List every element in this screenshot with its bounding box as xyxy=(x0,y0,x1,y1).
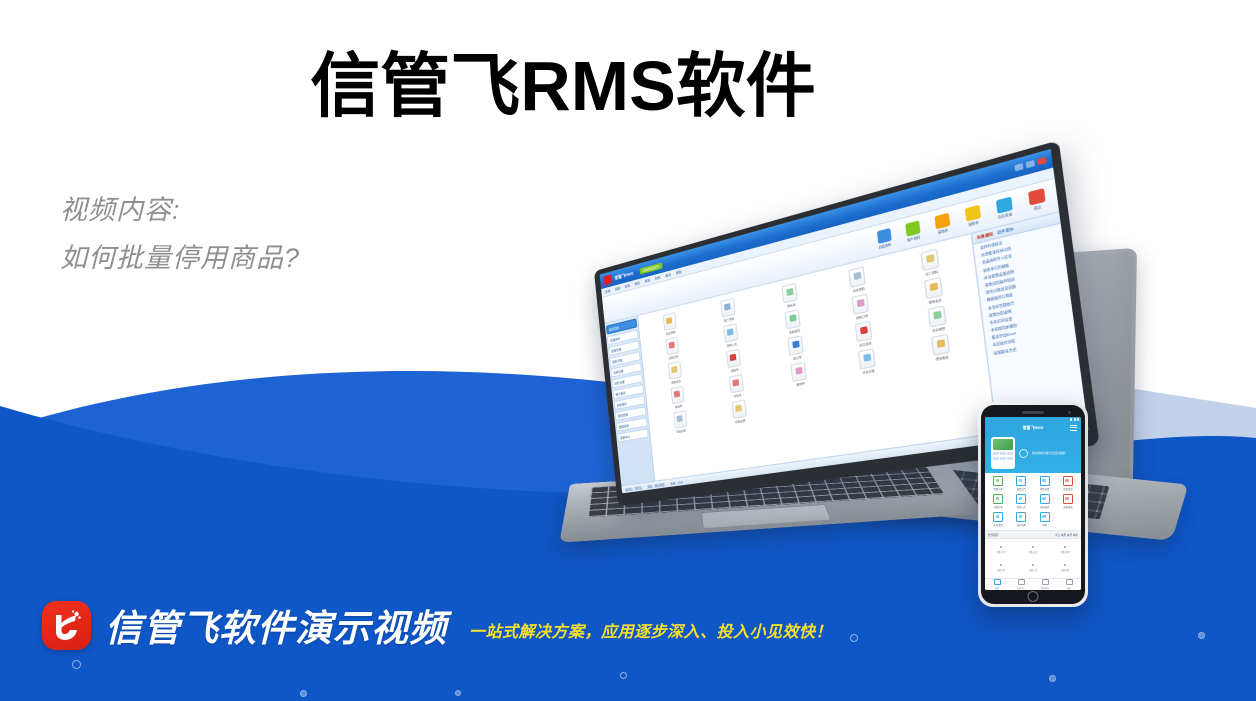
module-icon xyxy=(931,334,950,356)
phone-module-label: 收付款单 xyxy=(1010,523,1032,527)
phone-stat-value: 0 xyxy=(1049,563,1081,567)
menu-item-4[interactable]: 库存 xyxy=(645,278,651,283)
module-icon xyxy=(791,362,807,382)
phone-stat-label: 销售金额 xyxy=(1049,550,1081,554)
module-icon xyxy=(731,400,746,419)
decorative-dot-4 xyxy=(1049,675,1056,682)
page-title: 信管飞RMS软件 xyxy=(0,46,1256,126)
presentation-slide: 信管飞RMS软件 视频内容: 如何批量停用商品? 信 xyxy=(0,0,1256,701)
phone-stats: 0销售订单0销售出库0销售金额0采购订单0采购入库0采购金额 xyxy=(985,539,1081,578)
phone-stat-2: 0销售金额 xyxy=(1049,541,1081,559)
phone-module-grid[interactable]: 销售订单销售出库销售退货销售查询采购订单采购入库采购退货采购查询库存查询收付款单… xyxy=(985,473,1081,530)
phone-filter-3[interactable]: 本年 xyxy=(1073,534,1078,537)
menu-item-0[interactable]: 系统 xyxy=(605,289,611,294)
phone-home-button[interactable] xyxy=(1028,591,1039,602)
wifi-icon xyxy=(1074,418,1076,421)
toolbar-button-4[interactable]: 库存查询 xyxy=(992,196,1017,221)
phone-stat-5: 0采购金额 xyxy=(1049,559,1081,577)
toolbar-button-3[interactable]: 销售单 xyxy=(961,204,985,229)
xinguanfei-logo-icon xyxy=(42,601,91,650)
subtitle-block: 视频内容: 如何批量停用商品? xyxy=(60,186,300,282)
phone-module-label: 采购订单 xyxy=(987,505,1009,509)
phone-camera-icon xyxy=(1068,411,1071,414)
toolbar-button-1[interactable]: 客户资料 xyxy=(901,220,924,244)
phone-stat-label: 采购订单 xyxy=(985,568,1017,572)
user-icon xyxy=(1066,579,1073,585)
phone-module-label: 库存查询 xyxy=(987,523,1009,527)
phone-module-label: 采购入库 xyxy=(1010,505,1032,509)
phone-module-icon xyxy=(1016,494,1026,504)
phone-tab-1[interactable]: 单据中心 xyxy=(1009,579,1033,590)
phone-module-label: 采购退货 xyxy=(1034,505,1056,509)
phone-stat-value: 0 xyxy=(985,545,1017,549)
phone-section-label: 经营概况 xyxy=(988,533,998,537)
right-tab-1[interactable]: 软件更新 xyxy=(997,226,1014,235)
phone-module-icon xyxy=(1016,476,1026,486)
subtitle-line-1: 视频内容: xyxy=(60,186,300,234)
decorative-dot-5 xyxy=(850,634,858,642)
phone-module-10[interactable]: 更多 xyxy=(1034,512,1056,527)
app-title: 信管飞RMS xyxy=(614,270,633,281)
brand-name: 信管飞软件演示视频 xyxy=(105,598,447,652)
module-icon xyxy=(858,348,876,369)
phone-module-icon xyxy=(1063,494,1073,504)
module-icon xyxy=(663,312,677,331)
module-label: 销售退货 xyxy=(671,379,681,385)
module-label: 往来对账 xyxy=(862,368,875,375)
phone-tabbar[interactable]: 首页单据中心经营报表我的 xyxy=(985,578,1081,590)
phone-stat-value: 0 xyxy=(985,563,1017,567)
phone-banner-text: 随时随地掌握企业经营数据 xyxy=(1032,451,1066,455)
phone-app-title: 信管飞RMS xyxy=(1023,425,1044,431)
laptop-front: 信管飞RMS 正版授权软件 系统基础采购销售库存财务报表帮助 商品资料客户资料采… xyxy=(570,266,1040,606)
menu-item-1[interactable]: 基础 xyxy=(615,286,621,291)
maximize-icon[interactable] xyxy=(1026,160,1035,168)
toolbar-button-0[interactable]: 商品资料 xyxy=(873,227,895,250)
module-icon xyxy=(665,336,679,355)
module-label: 调拨单 xyxy=(730,367,738,373)
phone-body: 信管飞RMS 随时随地掌握企业经营数据 销售订单销售出库销售退货销 xyxy=(981,405,1085,604)
phone-module-6[interactable]: 采购退货 xyxy=(1034,494,1056,509)
brand-tagline: 一站式解决方案，应用逐步深入、投入小见效快！ xyxy=(469,618,832,642)
statusbar-field-0: 操作员：管理员 xyxy=(625,485,642,491)
phone-module-label: 销售出库 xyxy=(1010,487,1032,491)
close-icon[interactable] xyxy=(1037,157,1046,166)
phone-stat-value: 0 xyxy=(1049,545,1081,549)
phone-banner: 随时随地掌握企业经营数据 xyxy=(985,433,1081,473)
module-icon xyxy=(788,335,804,355)
module-label: 系统设置 xyxy=(735,418,746,424)
phone-stat-4: 0采购入库 xyxy=(1017,559,1049,577)
decorative-dot-1 xyxy=(300,690,307,697)
phone-stat-3: 0采购订单 xyxy=(985,559,1017,577)
decorative-dot-0 xyxy=(72,660,81,669)
module-label: 经营报表 xyxy=(935,354,949,361)
phone-tab-2[interactable]: 经营报表 xyxy=(1033,579,1057,590)
module-icon xyxy=(785,309,801,330)
toolbar-button-2[interactable]: 采购单 xyxy=(931,212,954,236)
phone-module-icon xyxy=(1040,476,1050,486)
app-logo-icon xyxy=(603,274,612,285)
menu-item-6[interactable]: 报表 xyxy=(665,272,671,278)
app-license-badge: 正版授权软件 xyxy=(639,262,662,274)
module-label: 采购入库 xyxy=(726,341,737,347)
phone-module-label: 更多 xyxy=(1034,523,1056,527)
module-label: 采购订单 xyxy=(668,354,678,360)
phone-section-title: 经营概况 今日 本周 本月 本年 xyxy=(985,530,1081,539)
phone-module-label: 销售查询 xyxy=(1057,487,1079,491)
phone-module-icon xyxy=(993,494,1003,504)
phone-tab-label: 首页 xyxy=(995,586,999,590)
phone-app-header: 信管飞RMS xyxy=(985,422,1081,433)
phone-module-1[interactable]: 销售出库 xyxy=(1010,476,1032,491)
decorative-dot-8 xyxy=(455,690,461,696)
phone-tab-label: 我的 xyxy=(1067,586,1071,590)
phone-stat-label: 采购金额 xyxy=(1049,568,1081,572)
home-icon xyxy=(994,579,1001,585)
phone-module-icon xyxy=(1016,512,1026,522)
phone-module-icon xyxy=(1040,512,1050,522)
module-icon xyxy=(668,361,682,380)
module-icon xyxy=(924,277,943,300)
brand-bar: 信管飞软件演示视频 一站式解决方案，应用逐步深入、投入小见效快！ xyxy=(42,598,832,652)
toolbar-button-5[interactable]: 退出 xyxy=(1024,187,1050,213)
module-icon xyxy=(852,293,870,315)
phone-stat-value: 0 xyxy=(1017,563,1049,567)
menu-item-3[interactable]: 销售 xyxy=(634,281,640,286)
phone-illustration-icon xyxy=(991,437,1015,469)
phone-stat-label: 采购入库 xyxy=(1017,568,1049,572)
chart-icon xyxy=(1042,579,1049,585)
phone-speaker xyxy=(1022,411,1044,414)
menu-item-5[interactable]: 财务 xyxy=(655,275,661,281)
docs-icon xyxy=(1018,579,1025,585)
logo-mark xyxy=(42,601,91,650)
phone-screen: 信管飞RMS 随时随地掌握企业经营数据 销售订单销售出库销售退货销 xyxy=(985,417,1081,590)
phone-module-label: 销售退货 xyxy=(1034,487,1056,491)
phone-module-2[interactable]: 销售退货 xyxy=(1034,476,1056,491)
phone-stat-value: 0 xyxy=(1017,545,1049,549)
module-label: 盘点单 xyxy=(793,355,802,361)
phone-tab-label: 经营报表 xyxy=(1041,586,1050,590)
menu-item-2[interactable]: 采购 xyxy=(624,283,630,288)
decorative-dot-6 xyxy=(1198,632,1205,639)
phone-module-0[interactable]: 销售订单 xyxy=(987,476,1009,491)
module-label: 商品资料 xyxy=(666,330,676,336)
statusbar-field-1: 账套：默认账套 xyxy=(647,482,664,488)
phone-stat-label: 销售出库 xyxy=(1017,550,1049,554)
hamburger-menu-icon[interactable] xyxy=(1070,425,1077,431)
module-icon xyxy=(921,248,940,271)
module-label: 销售订单 xyxy=(856,313,869,320)
phone-module-7[interactable]: 采购查询 xyxy=(1057,494,1079,509)
phone-module-9[interactable]: 收付款单 xyxy=(1010,512,1032,527)
phone-section-filters[interactable]: 今日 本周 本月 本年 xyxy=(1055,533,1078,537)
module-icon xyxy=(849,266,867,288)
module-label: 利润分析 xyxy=(676,428,686,434)
module-icon xyxy=(720,298,735,318)
banner-accent-icon xyxy=(1019,449,1028,458)
phone-module-4[interactable]: 采购订单 xyxy=(987,494,1009,509)
signal-icon xyxy=(1070,418,1072,421)
module-icon xyxy=(728,374,743,394)
phone-module-8[interactable]: 库存查询 xyxy=(987,512,1009,527)
statusbar-field-2: 版本：V9.8 xyxy=(670,479,683,485)
device-composition: 信管飞RMS 正版授权软件 系统基础采购销售库存财务报表帮助 商品资料客户资料采… xyxy=(560,240,1256,620)
module-label: 费用单 xyxy=(796,381,805,387)
decorative-dot-7 xyxy=(620,672,627,679)
module-icon xyxy=(723,323,738,343)
right-tab-0[interactable]: 消息通知 xyxy=(976,231,993,240)
phone-module-icon xyxy=(993,476,1003,486)
phone-stat-label: 销售订单 xyxy=(985,550,1017,554)
module-label: 客户资料 xyxy=(724,316,735,323)
phone-module-3[interactable]: 销售查询 xyxy=(1057,476,1079,491)
subtitle-line-2: 如何批量停用商品? xyxy=(60,234,300,282)
module-label: 库存预警 xyxy=(932,326,946,333)
phone-tab-label: 单据中心 xyxy=(1017,586,1026,590)
module-icon xyxy=(928,305,947,327)
minimize-icon[interactable] xyxy=(1014,163,1023,171)
battery-icon xyxy=(1077,418,1079,421)
phone-tab-3[interactable]: 我的 xyxy=(1057,579,1081,590)
phone-tab-0[interactable]: 首页 xyxy=(985,579,1009,590)
phone-module-icon xyxy=(993,512,1003,522)
module-icon xyxy=(673,410,687,429)
module-label: 库存查询 xyxy=(859,341,872,348)
module-label: 采购退货 xyxy=(789,328,801,335)
phone-module-5[interactable]: 采购入库 xyxy=(1010,494,1032,509)
smartphone: 信管飞RMS 随时随地掌握企业经营数据 销售订单销售出库销售退货销 xyxy=(978,402,1088,607)
module-label: 供应商 xyxy=(787,302,796,308)
module-label: 收款单 xyxy=(675,404,683,409)
phone-module-label: 销售订单 xyxy=(987,487,1009,491)
window-controls[interactable] xyxy=(1014,157,1046,172)
module-icon xyxy=(670,386,684,405)
phone-stat-0: 0销售订单 xyxy=(985,541,1017,559)
phone-module-icon xyxy=(1063,476,1073,486)
phone-stat-1: 0销售出库 xyxy=(1017,541,1049,559)
phone-module-label: 采购查询 xyxy=(1057,505,1079,509)
menu-item-7[interactable]: 帮助 xyxy=(676,270,682,276)
module-icon xyxy=(855,321,873,342)
module-icon xyxy=(726,349,741,369)
phone-module-icon xyxy=(1040,494,1050,504)
module-label: 付款单 xyxy=(733,393,741,399)
module-icon xyxy=(782,283,798,304)
